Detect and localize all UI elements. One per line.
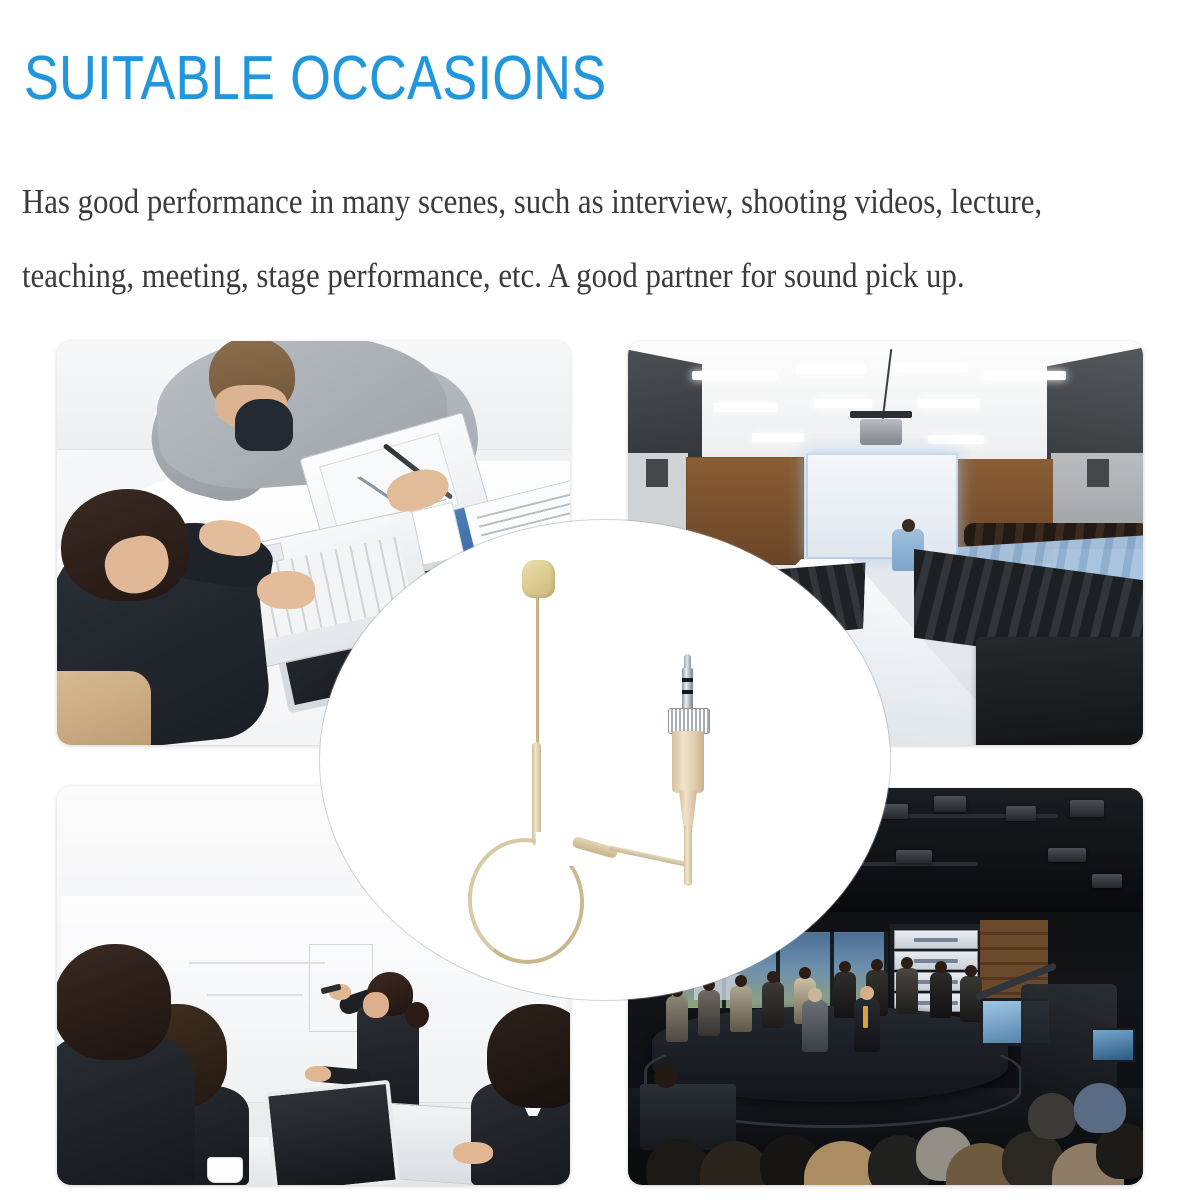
ceiling-light [890, 363, 968, 372]
description-line-2: teaching, meeting, stage performance, et… [22, 239, 1053, 313]
description-line-1: Has good performance in many scenes, suc… [22, 165, 1053, 239]
stage-light [1048, 848, 1086, 862]
stage-light [1006, 806, 1036, 821]
product-feature-page: SUITABLE OCCASIONS Has good performance … [0, 0, 1200, 1200]
host-seated-right [854, 998, 880, 1052]
host-seated-left [802, 1000, 828, 1052]
projector-mount [850, 411, 912, 418]
mic-cable [608, 845, 691, 867]
wall-speaker-right [1087, 459, 1109, 487]
attendee-front-hair [57, 944, 171, 1060]
connector-insulator-ring [682, 690, 693, 694]
audience-head [1028, 1093, 1076, 1139]
panelist [930, 972, 952, 1018]
ceiling-light [796, 365, 866, 374]
whiteboard-marking [207, 994, 303, 996]
presenter-head [902, 519, 915, 532]
connector-taper [678, 790, 698, 828]
instructor-hand-lower [305, 1066, 331, 1082]
product-highlight-oval [320, 520, 890, 1000]
office-chair [57, 671, 151, 745]
panelist [896, 968, 918, 1014]
mic-boom-arm [536, 596, 539, 748]
page-title: SUITABLE OCCASIONS [24, 48, 607, 110]
stage-light [1092, 874, 1122, 888]
instructor-hair-bun [405, 1002, 429, 1028]
connector-insulator-ring [682, 678, 693, 682]
mic-boom-sleeve [532, 742, 541, 846]
sponsor-banner [894, 930, 978, 949]
panelist [666, 996, 688, 1042]
ceiling-light [714, 403, 778, 412]
earhook-microphone [320, 520, 890, 1000]
ceiling-light [918, 399, 980, 408]
laptop-open [264, 1080, 400, 1185]
stage-light [934, 796, 966, 812]
whiteboard-marking [189, 962, 325, 964]
audience [628, 1063, 1143, 1185]
mic-windscreen [522, 560, 555, 598]
ceiling-light [692, 371, 778, 380]
ceiling-light [752, 433, 804, 442]
audience-head [1074, 1083, 1126, 1133]
attendee-right-hand [453, 1142, 493, 1164]
stage-light [896, 850, 932, 863]
mic-loop-mask [536, 832, 580, 866]
wall-speaker-left [646, 459, 668, 487]
attendee-right-hair [487, 1004, 570, 1108]
connector-shaft [682, 668, 693, 710]
man-tie [235, 399, 293, 451]
connector-cable [684, 824, 692, 886]
ceiling-light [814, 399, 872, 408]
ceiling-light [984, 371, 1066, 380]
foreground-monitor [976, 637, 1143, 745]
ceiling-light [928, 435, 984, 444]
connector-body [672, 731, 704, 793]
description-block: Has good performance in many scenes, suc… [22, 165, 1194, 313]
stage-light [1070, 800, 1104, 817]
woman-hand-right [257, 571, 315, 609]
coffee-cup [207, 1157, 243, 1183]
ceiling-projector [860, 419, 902, 445]
camera-preview-screen [1091, 1028, 1135, 1062]
